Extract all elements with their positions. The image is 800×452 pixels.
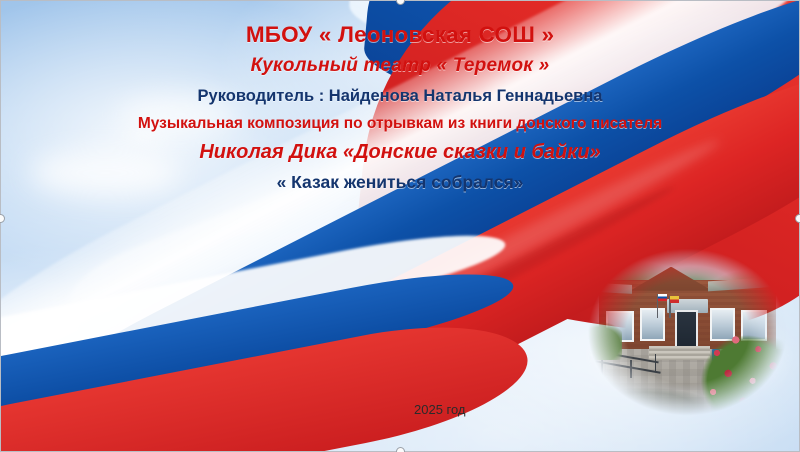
title-piece: « Казак жениться собрался»	[0, 172, 800, 192]
title-school-name: МБОУ « Леоновская СОШ »	[0, 22, 800, 48]
title-composition-note: Музыкальная композиция по отрывкам из кн…	[0, 115, 800, 133]
photo-ground-shadow	[585, 387, 729, 418]
photo-regional-flag-icon	[670, 296, 679, 303]
selection-handle-bottom-center[interactable]	[396, 447, 405, 452]
title-author-book: Николая Дика «Донские сказки и байки»	[0, 141, 800, 164]
title-director: Руководитель : Найденова Наталья Геннадь…	[0, 87, 800, 106]
photo-window	[640, 308, 665, 341]
year-label: 2025 год	[414, 402, 466, 417]
photo-grass	[585, 322, 622, 360]
title-block: МБОУ « Леоновская СОШ » Кукольный театр …	[0, 22, 800, 197]
photo-rail-post	[655, 354, 657, 371]
school-photo[interactable]	[585, 246, 790, 418]
photo-rail-post	[630, 360, 632, 379]
title-theatre-name: Кукольный театр « Теремок »	[0, 55, 800, 77]
selection-handle-middle-right[interactable]	[795, 214, 800, 223]
photo-russian-flag-icon	[658, 294, 667, 301]
presentation-slide[interactable]: МБОУ « Леоновская СОШ » Кукольный театр …	[0, 0, 800, 452]
photo-roof-left	[599, 283, 632, 293]
